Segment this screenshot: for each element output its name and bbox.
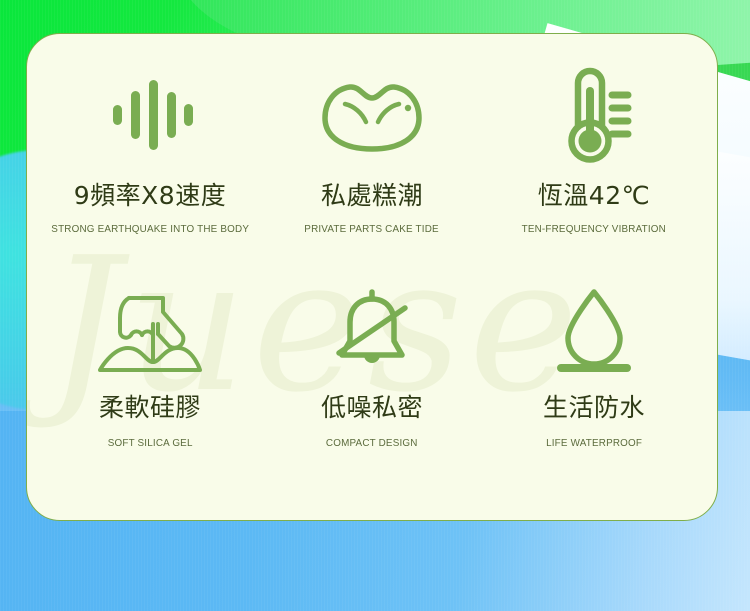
feature-subtitle: PRIVATE PARTS CAKE TIDE: [305, 223, 440, 235]
bell-muted-icon: [326, 287, 418, 375]
icon-container: [96, 276, 204, 386]
feature-item-low-noise: 低噪私密 COMPACT DESIGN: [261, 276, 483, 496]
feature-subtitle: STRONG EARTHQUAKE INTO THE BODY: [51, 223, 249, 235]
feature-item-frequency-speed: 9頻率X8速度 STRONG EARTHQUAKE INTO THE BODY: [39, 56, 261, 276]
feature-item-waterproof: 生活防水 LIFE WATERPROOF: [483, 276, 705, 496]
feature-subtitle: COMPACT DESIGN: [326, 437, 418, 449]
feature-title: 柔軟硅膠: [99, 388, 201, 424]
sound-wave-icon: [107, 76, 193, 154]
feature-item-soft-silicone: 柔軟硅膠 SOFT SILICA GEL: [39, 276, 261, 496]
water-drop-icon: [551, 286, 637, 376]
feature-title: 9頻率X8速度: [74, 176, 226, 212]
bean-blob-icon: [320, 77, 424, 153]
feature-card: Juese 9頻率X8速度 STRONG E: [26, 33, 718, 521]
feature-subtitle: SOFT SILICA GEL: [108, 437, 193, 449]
product-feature-infographic: Juese 9頻率X8速度 STRONG E: [0, 0, 750, 611]
icon-container: [326, 276, 418, 386]
icon-container: [320, 56, 424, 174]
hand-press-icon: [96, 288, 204, 374]
feature-item-private-parts: 私處糕潮 PRIVATE PARTS CAKE TIDE: [261, 56, 483, 276]
feature-title: 生活防水: [543, 388, 645, 424]
feature-title: 私處糕潮: [321, 176, 423, 212]
thermometer-icon: [552, 65, 636, 165]
icon-container: [552, 56, 636, 174]
feature-grid: 9頻率X8速度 STRONG EARTHQUAKE INTO THE BODY: [27, 34, 717, 520]
icon-container: [107, 56, 193, 174]
feature-item-constant-temperature: 恆溫42℃ TEN-FREQUENCY VIBRATION: [483, 56, 705, 276]
feature-subtitle: TEN-FREQUENCY VIBRATION: [522, 223, 666, 235]
icon-container: [551, 276, 637, 386]
feature-subtitle: LIFE WATERPROOF: [546, 437, 642, 449]
feature-title: 恆溫42℃: [538, 176, 650, 212]
feature-title: 低噪私密: [321, 388, 423, 424]
